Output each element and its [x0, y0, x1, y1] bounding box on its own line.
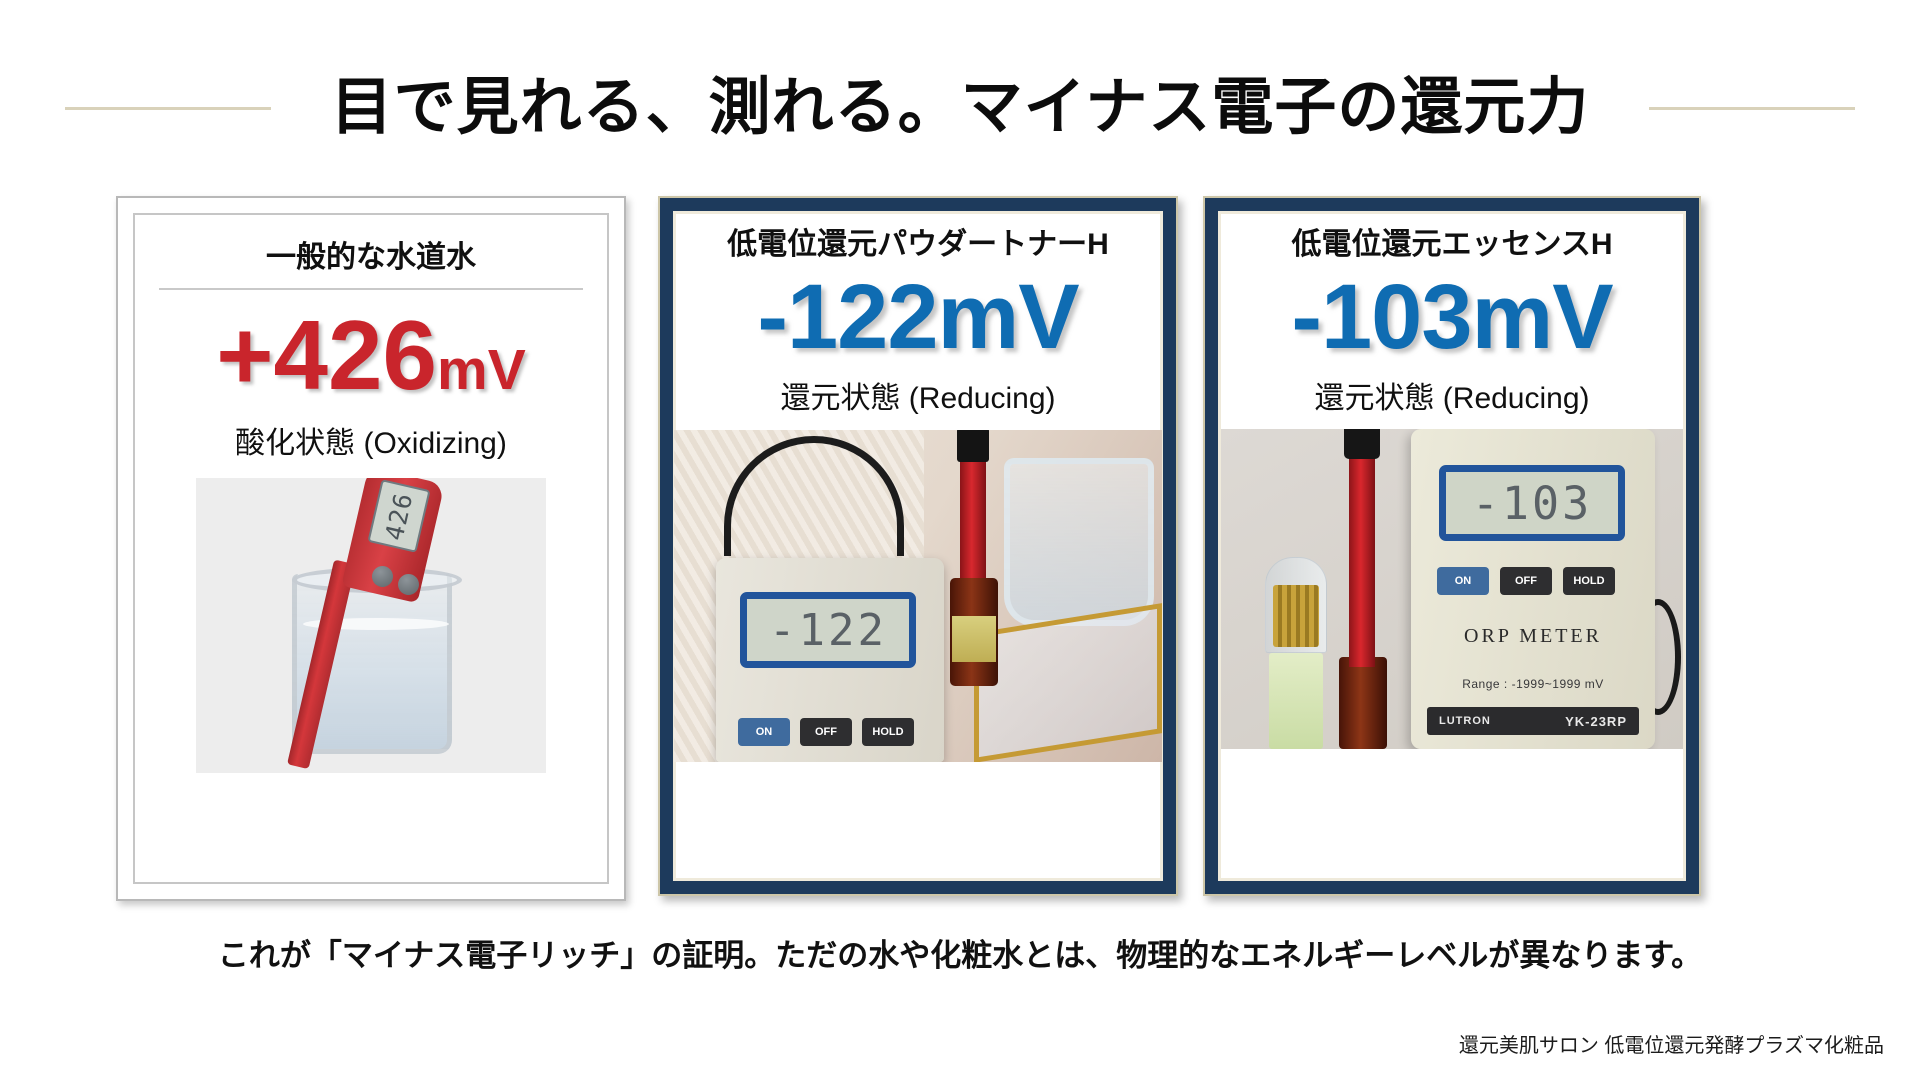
- orp-pen-lcd-value: 426: [379, 489, 418, 542]
- cosmetic-bottle-liquid-shape: [1269, 653, 1323, 749]
- orp-meter-brand-label: LUTRON: [1439, 715, 1491, 727]
- panel-tap-water-state: 酸化状態 (Oxidizing): [235, 418, 507, 462]
- panel-tap-water-header: 一般的な水道水: [266, 241, 476, 274]
- panel-essence-h-cream-mat: 低電位還元エッセンスH -103mV 還元状態 (Reducing): [1218, 211, 1686, 881]
- page-title: 目で見れる、測れる。マイナス電子の還元力: [331, 77, 1590, 139]
- panel-essence-h: 低電位還元エッセンスH -103mV 還元状態 (Reducing): [1203, 196, 1701, 896]
- orp-meter-model-text: ORP METER: [1411, 625, 1655, 648]
- orp-meter-hold-button-2: HOLD: [862, 718, 914, 746]
- orp-meter-lcd-value-3: -103: [1472, 477, 1592, 530]
- cosmetic-bottle-gold-pump-shape: [1273, 585, 1319, 647]
- panel-powder-toner-h-state: 還元状態 (Reducing): [780, 373, 1055, 417]
- orp-meter-body-shape-2: -122 ON OFF HOLD: [716, 558, 944, 762]
- amber-bottle-label-shape: [952, 616, 996, 662]
- panel-powder-toner-h-reading: -122mV: [757, 271, 1078, 363]
- orp-meter-sku-label: YK-23RP: [1565, 714, 1627, 729]
- orp-probe-shape-3: [1349, 443, 1375, 667]
- orp-meter-on-button-3: ON: [1437, 567, 1489, 595]
- panel-essence-h-header: 低電位還元エッセンスH: [1291, 228, 1612, 261]
- panel-powder-toner-h: 低電位還元パウダートナーH -122mV 還元状態 (Reducing): [658, 196, 1178, 896]
- comparison-panels: 一般的な水道水 +426mV 酸化状態 (Oxidizing) 426: [0, 196, 1920, 906]
- photo-powder-toner-h-measurement: -122 ON OFF HOLD: [674, 430, 1162, 762]
- orp-meter-buttons-3: ON OFF HOLD: [1437, 567, 1615, 595]
- panel-tap-water-divider: [159, 288, 583, 290]
- panel-essence-h-reading: -103mV: [1291, 271, 1612, 363]
- panel-essence-h-state: 還元状態 (Reducing): [1314, 373, 1589, 417]
- orp-meter-hold-button-3: HOLD: [1563, 567, 1615, 595]
- orp-meter-range-text: Range : -1999~1999 mV: [1411, 677, 1655, 691]
- title-row: 目で見れる、測れる。マイナス電子の還元力: [0, 58, 1920, 158]
- panel-tap-water: 一般的な水道水 +426mV 酸化状態 (Oxidizing) 426: [116, 196, 626, 901]
- panel-powder-toner-h-cream-mat: 低電位還元パウダートナーH -122mV 還元状態 (Reducing): [673, 211, 1163, 881]
- orp-meter-buttons-2: ON OFF HOLD: [738, 718, 914, 746]
- water-glass-shape-2: [1004, 458, 1154, 626]
- orp-meter-lcd-value-2: -122: [769, 605, 887, 656]
- orp-meter-body-shape-3: -103 ON OFF HOLD ORP METER Range : -1999…: [1411, 429, 1655, 749]
- footer-branding: 還元美肌サロン 低電位還元発酵プラズマ化粧品: [1459, 1029, 1884, 1058]
- gold-tray-shape: [974, 603, 1162, 762]
- orp-meter-off-button-3: OFF: [1500, 567, 1552, 595]
- panel-tap-water-unit: mV: [437, 338, 526, 402]
- summary-caption: これが「マイナス電子リッチ」の証明。ただの水や化粧水とは、物理的なエネルギーレベ…: [0, 930, 1920, 975]
- panel-powder-toner-h-inner: 低電位還元パウダートナーH -122mV 還元状態 (Reducing): [676, 214, 1160, 878]
- photo-tap-water-orp-pen: 426: [196, 478, 546, 773]
- title-rule-left-decoration: [65, 107, 271, 110]
- orp-meter-brand-bar: LUTRON YK-23RP: [1427, 707, 1639, 735]
- photo-essence-h-measurement: -103 ON OFF HOLD ORP METER Range : -1999…: [1221, 429, 1683, 749]
- cosmetic-bottle-shape: [1265, 557, 1327, 749]
- panel-tap-water-inner: 一般的な水道水 +426mV 酸化状態 (Oxidizing) 426: [133, 213, 609, 884]
- title-rule-right-decoration: [1649, 107, 1855, 110]
- slide-root: 目で見れる、測れる。マイナス電子の還元力 一般的な水道水 +426mV 酸化状態…: [0, 0, 1920, 1080]
- panel-essence-h-inner: 低電位還元エッセンスH -103mV 還元状態 (Reducing): [1221, 214, 1683, 878]
- orp-meter-off-button-2: OFF: [800, 718, 852, 746]
- panel-tap-water-value: +426: [216, 300, 437, 410]
- orp-meter-lcd-2: -122: [740, 592, 916, 668]
- orp-meter-on-button-2: ON: [738, 718, 790, 746]
- panel-tap-water-reading: +426mV: [216, 306, 525, 404]
- orp-meter-lcd-3: -103: [1439, 465, 1625, 541]
- orp-probe-shape-2: [960, 436, 986, 586]
- panel-powder-toner-h-header: 低電位還元パウダートナーH: [727, 228, 1109, 261]
- amber-bottle-shape-3: [1339, 657, 1387, 749]
